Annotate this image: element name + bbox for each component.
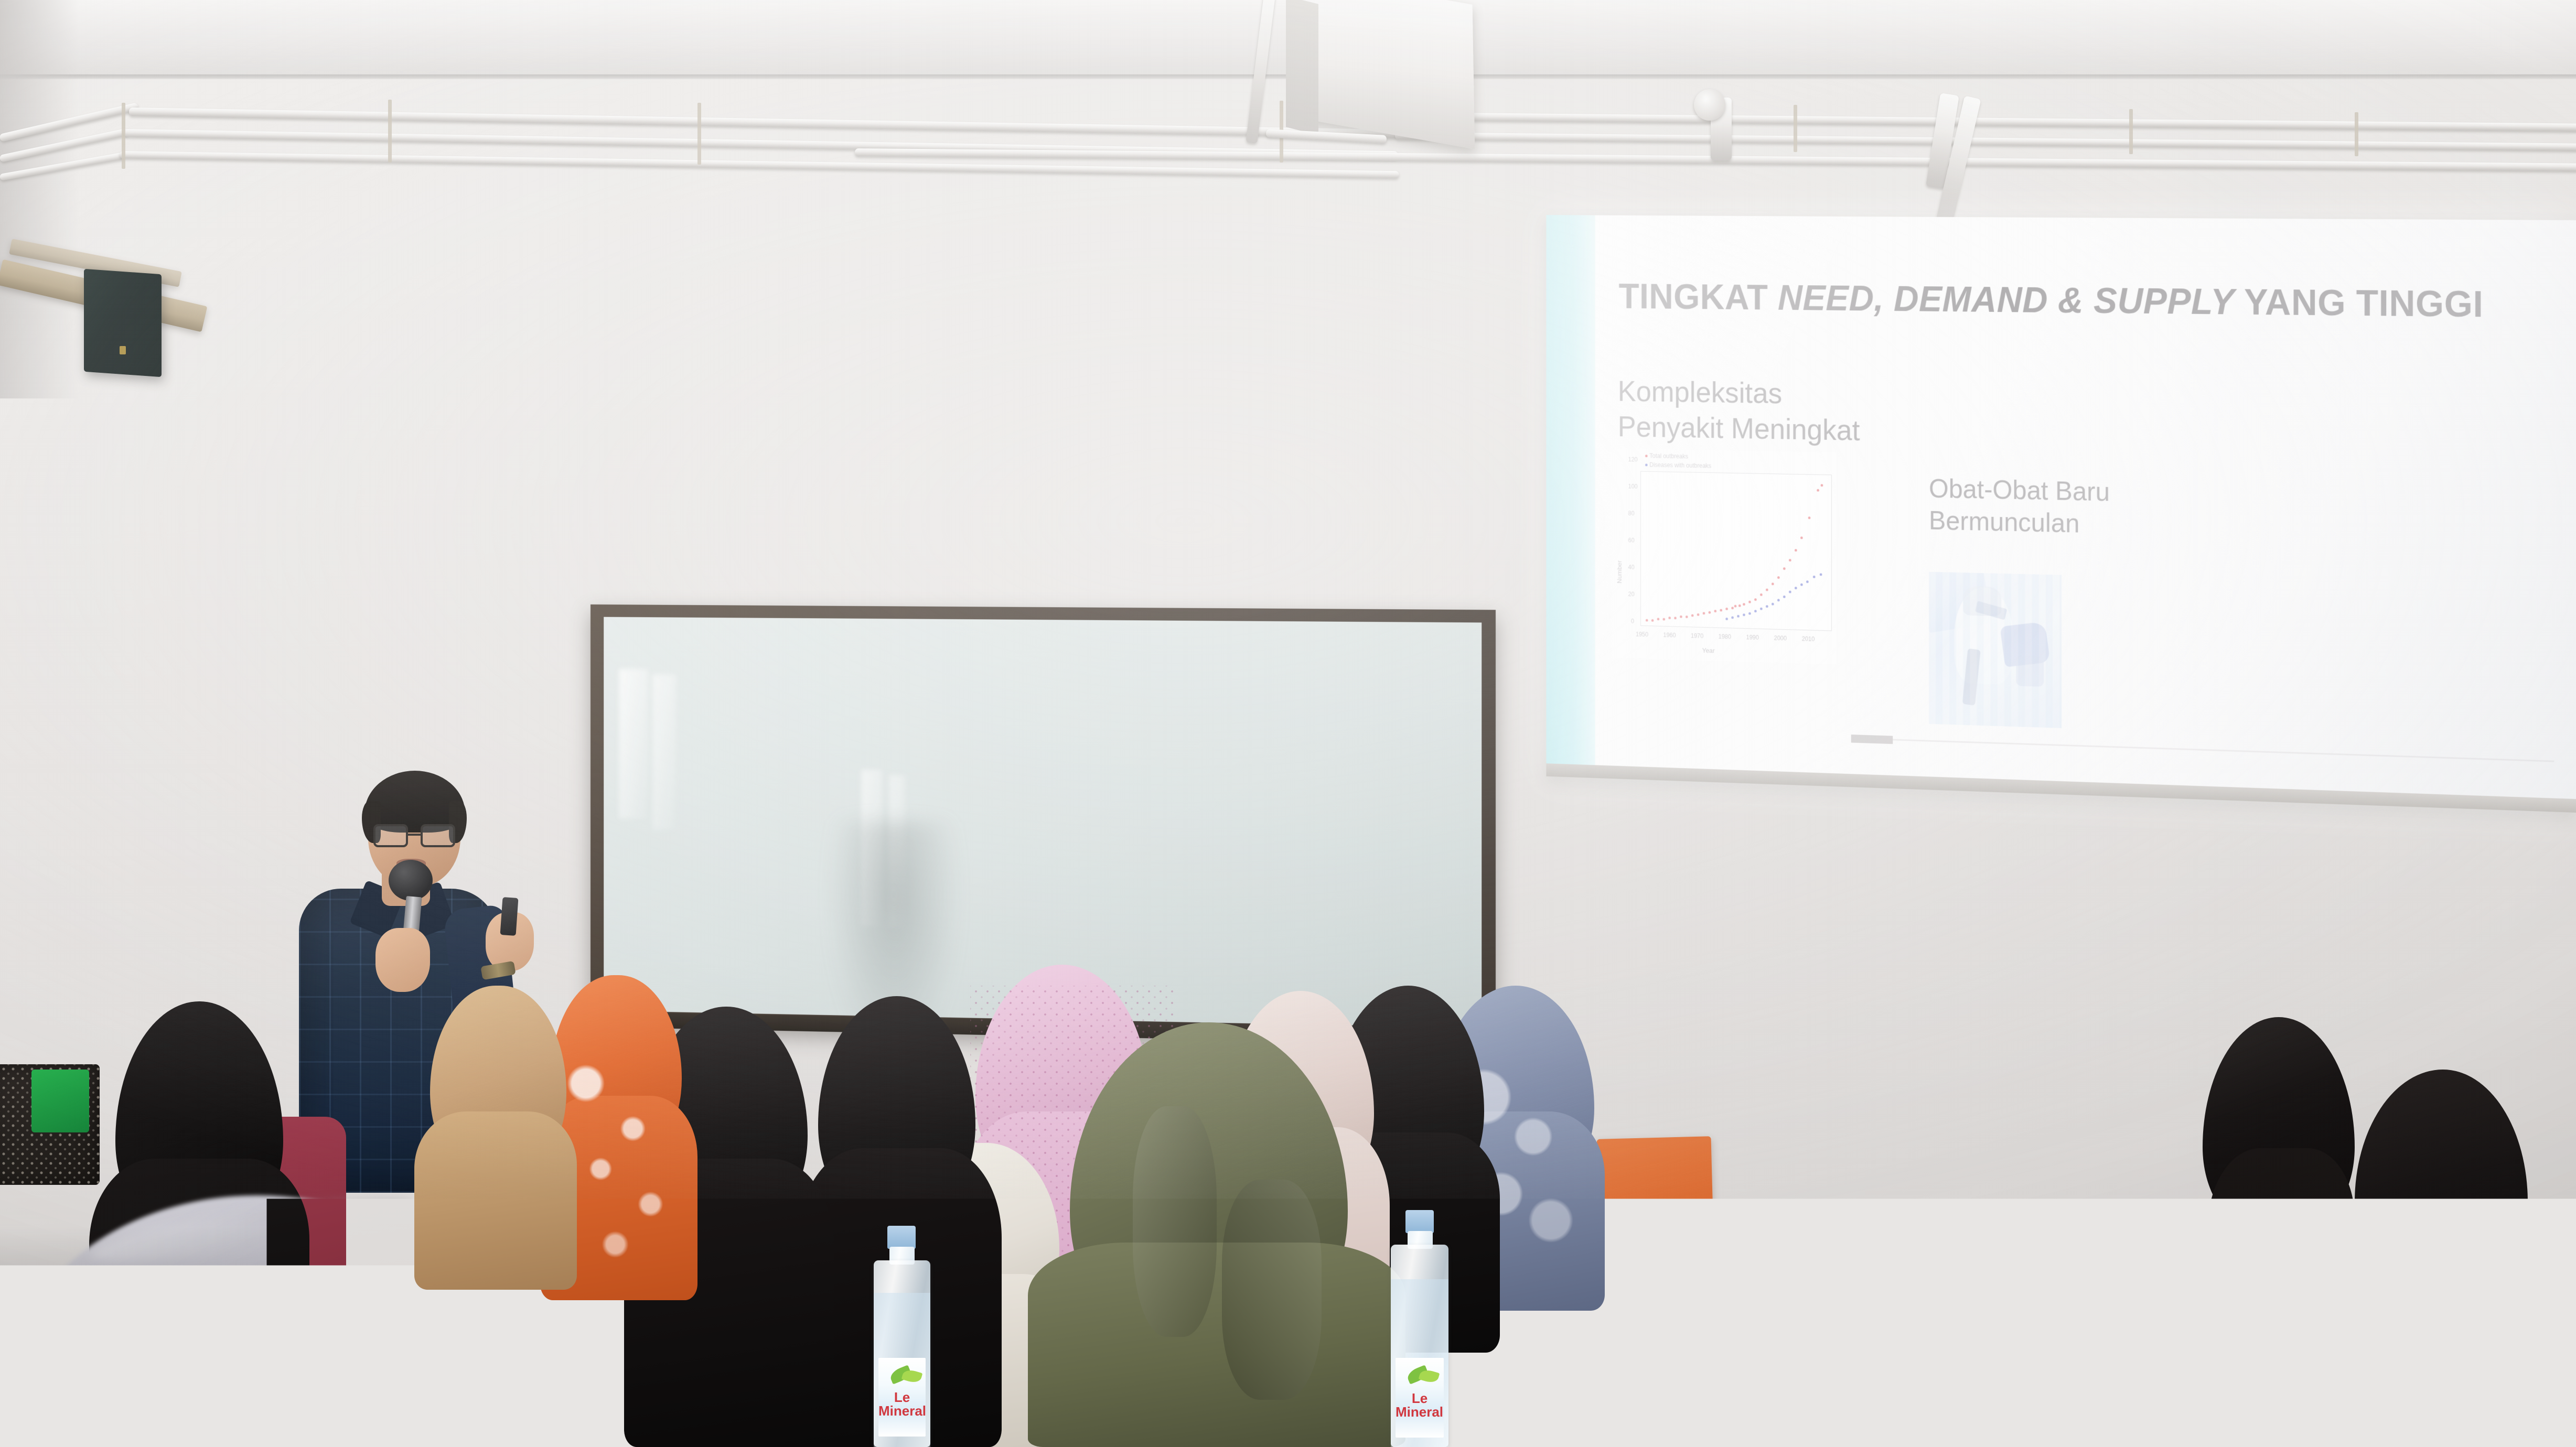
chart-y-tick: 120 (1628, 456, 1638, 463)
floral-embroidery (2418, 1363, 2517, 1447)
chart-y-tick: 20 (1628, 591, 1635, 598)
tablet-arm-desk (1547, 1362, 1689, 1392)
bottle-label: Le Minerale (1396, 1358, 1444, 1438)
desk-frame (1988, 1279, 2003, 1447)
chart-plot-area (1640, 471, 1832, 631)
bottle-cap (887, 1226, 916, 1249)
chart-x-tick: 1990 (1746, 634, 1759, 641)
chart-x-tick: 1960 (1663, 631, 1676, 639)
bottle-brand-name: Le Minerale (878, 1390, 926, 1418)
subheading-left-line-1: Kompleksitas (1618, 374, 1860, 413)
legend-swatch-total-outbreaks (1645, 455, 1648, 458)
chart-legend-item: Diseases with outbreaks (1645, 461, 1711, 470)
green-pouch (31, 1070, 89, 1132)
tablet-arm-desk (1967, 1253, 2119, 1278)
student-olive-front (975, 1022, 1447, 1447)
wall-corner-shadow (0, 0, 79, 398)
chart-y-tick: 80 (1628, 510, 1635, 517)
slide-accent-bar (1546, 215, 1595, 778)
lab-technician-photo (1929, 572, 2062, 728)
legend-swatch-diseases-with-outbreaks (1645, 464, 1648, 467)
chart-y-axis-label: Number (1616, 560, 1623, 584)
subheading-left-line-2: Penyakit Meningkat (1618, 409, 1860, 449)
speaker-led-indicator (120, 346, 126, 354)
outbreaks-scatter-chart: Number 120 100 80 60 40 20 0 Total outbr… (1612, 449, 1837, 665)
slide-title: TINGKAT NEED, DEMAND & SUPPLY YANG TINGG… (1619, 276, 2484, 326)
bottle-label: Le Minerale (878, 1358, 926, 1437)
bottle-brand-name: Le Minerale (1396, 1391, 1444, 1419)
chart-x-tick: 1950 (1636, 631, 1648, 638)
chart-x-tick: 2010 (1802, 635, 1815, 643)
subheading-right-line-2: Bermunculan (1929, 505, 2110, 541)
slide-title-italic-part: NEED, DEMAND & SUPPLY (1778, 278, 2235, 322)
water-bottle-right[interactable]: Le Minerale (1391, 1210, 1448, 1447)
presenter-hand-left (375, 928, 430, 992)
chart-legend-item: Total outbreaks (1645, 452, 1688, 460)
lecture-hall-scene: TINGKAT NEED, DEMAND & SUPPLY YANG TINGG… (0, 0, 2576, 1447)
slide-subheading-right: Obat-Obat Baru Bermunculan (1929, 473, 2110, 541)
bottle-cap (1405, 1210, 1434, 1233)
chart-x-axis-label: Year (1702, 646, 1715, 654)
water-bottle-left[interactable]: Le Minerale (874, 1226, 930, 1447)
projected-slide: TINGKAT NEED, DEMAND & SUPPLY YANG TINGG… (1546, 215, 2576, 813)
slide-subheading-left: Kompleksitas Penyakit Meningkat (1618, 374, 1860, 449)
student-front-lavender (10, 1195, 503, 1447)
smartphone-on-desk[interactable] (1657, 1239, 1721, 1265)
lace-sleeve (2151, 1239, 2267, 1398)
chart-y-tick: 40 (1628, 564, 1635, 571)
presentation-clicker (500, 897, 519, 936)
chart-y-tick: 100 (1628, 483, 1638, 490)
chart-y-tick: 60 (1628, 537, 1635, 544)
hijab-fold (1222, 1180, 1322, 1400)
subheading-right-line-1: Obat-Obat Baru (1929, 473, 2110, 509)
student-black-far-right-b (2323, 1070, 2576, 1447)
chart-y-tick: 0 (1631, 618, 1634, 624)
chart-x-tick: 2000 (1774, 634, 1787, 642)
tablet-arm-desk (1657, 1268, 1784, 1294)
chart-x-tick: 1980 (1719, 633, 1731, 640)
chart-x-tick: 1970 (1691, 632, 1703, 640)
hijab-fold (1133, 1106, 1217, 1337)
